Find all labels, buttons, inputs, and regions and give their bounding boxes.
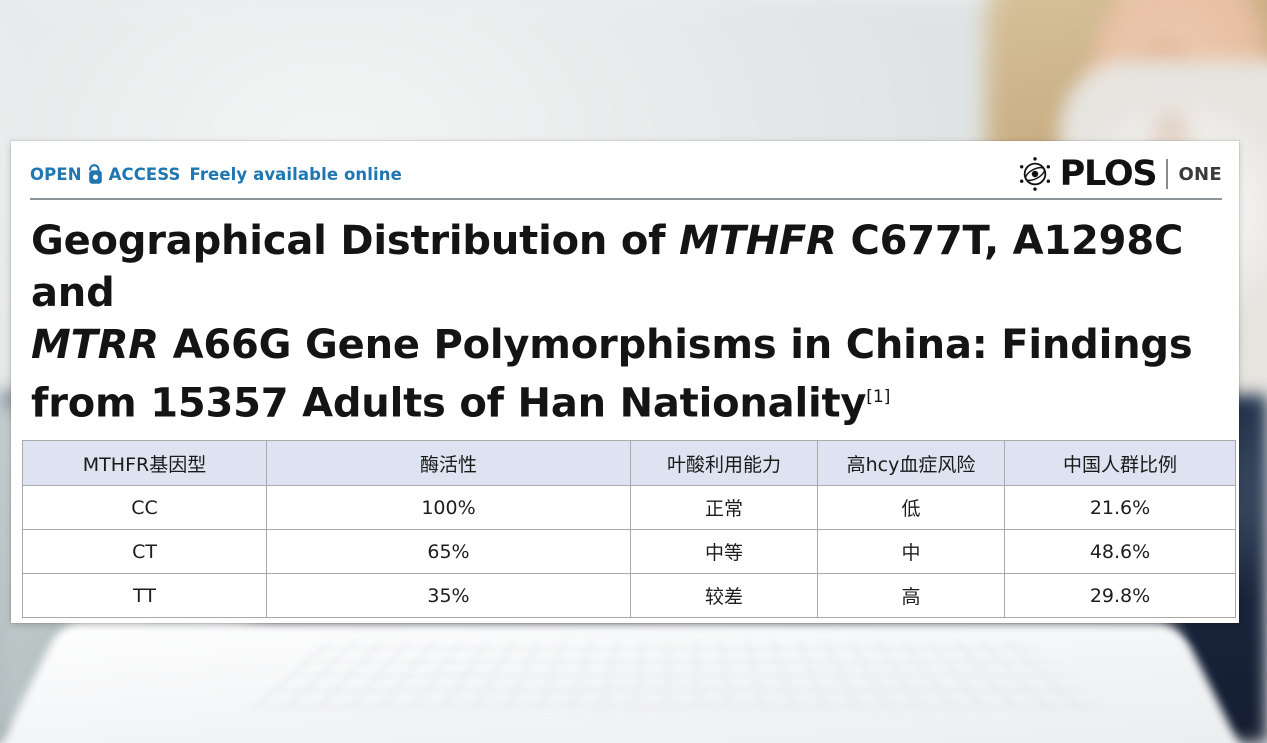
table-row: TT 35% 较差 高 29.8% <box>23 574 1236 618</box>
cell-population-ratio: 29.8% <box>1005 574 1236 618</box>
table-header-row-group: MTHFR基因型 酶活性 叶酸利用能力 高hcy血症风险 中国人群比例 <box>23 441 1236 486</box>
table-header-row: MTHFR基因型 酶活性 叶酸利用能力 高hcy血症风险 中国人群比例 <box>23 441 1236 486</box>
table-row: CT 65% 中等 中 48.6% <box>23 530 1236 574</box>
article-title: Geographical Distribution of MTHFR C677T… <box>31 215 1231 429</box>
background-keyboard-keys <box>254 640 1106 708</box>
cell-folate-utilization: 较差 <box>631 574 818 618</box>
cell-hcy-risk: 高 <box>818 574 1005 618</box>
cell-hcy-risk: 低 <box>818 486 1005 530</box>
table-row: CC 100% 正常 低 21.6% <box>23 486 1236 530</box>
cell-folate-utilization: 正常 <box>631 486 818 530</box>
logo-divider <box>1166 159 1168 189</box>
cell-genotype: TT <box>23 574 267 618</box>
cell-population-ratio: 48.6% <box>1005 530 1236 574</box>
title-gene-mtrr: MTRR <box>31 322 159 368</box>
open-access-banner: OPEN ACCESS Freely available online <box>30 164 402 184</box>
table-body: CC 100% 正常 低 21.6% CT 65% 中等 中 48.6% TT … <box>23 486 1236 618</box>
table-header-enzyme-activity: 酶活性 <box>267 441 631 486</box>
article-card: OPEN ACCESS Freely available online <box>11 141 1239 623</box>
cell-hcy-risk: 中 <box>818 530 1005 574</box>
journal-name: ONE <box>1178 164 1222 185</box>
presentation-slide: OPEN ACCESS Freely available online <box>0 0 1267 743</box>
table-header-folate-utilization: 叶酸利用能力 <box>631 441 818 486</box>
cell-enzyme-activity: 35% <box>267 574 631 618</box>
cell-enzyme-activity: 100% <box>267 486 631 530</box>
title-line-2-suffix: A66G Gene Polymorphisms in China: Findin… <box>159 322 1193 368</box>
cell-enzyme-activity: 65% <box>267 530 631 574</box>
open-access-open-label: OPEN <box>30 165 82 184</box>
mthfr-genotype-table: MTHFR基因型 酶活性 叶酸利用能力 高hcy血症风险 中国人群比例 CC 1… <box>22 440 1236 618</box>
journal-header: OPEN ACCESS Freely available online <box>11 141 1239 198</box>
title-line-1-prefix: Geographical Distribution of <box>31 218 679 264</box>
open-access-access-label: ACCESS <box>109 165 181 184</box>
title-reference-marker: [1] <box>866 387 890 407</box>
plos-atom-icon <box>1017 156 1053 192</box>
open-access-tagline: Freely available online <box>190 165 402 184</box>
title-line-3: from 15357 Adults of Han Nationality <box>31 380 866 426</box>
cell-genotype: CT <box>23 530 267 574</box>
cell-folate-utilization: 中等 <box>631 530 818 574</box>
header-rule <box>30 198 1222 200</box>
cell-population-ratio: 21.6% <box>1005 486 1236 530</box>
table-header-genotype: MTHFR基因型 <box>23 441 267 486</box>
plos-wordmark: PLOS <box>1060 157 1157 192</box>
table-header-hcy-risk: 高hcy血症风险 <box>818 441 1005 486</box>
table-header-population-ratio: 中国人群比例 <box>1005 441 1236 486</box>
open-lock-icon <box>87 164 104 184</box>
plos-one-logo: PLOS ONE <box>1017 156 1222 192</box>
cell-genotype: CC <box>23 486 267 530</box>
title-gene-mthfr: MTHFR <box>679 218 837 264</box>
